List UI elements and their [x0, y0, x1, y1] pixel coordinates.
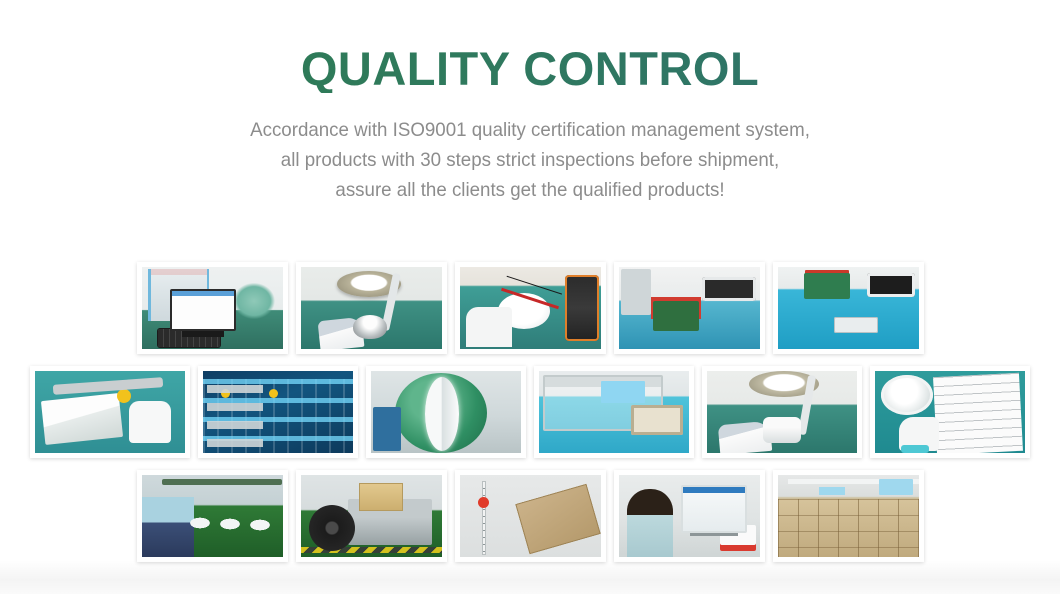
gallery-row-3 [0, 466, 1060, 566]
photo-card-warehouse-storage[interactable] [773, 470, 924, 562]
photo-card-carton-strapping[interactable] [296, 470, 447, 562]
photo-wiring-power-test [778, 267, 919, 349]
photo-card-qc-office-record[interactable] [614, 470, 765, 562]
photo-multimeter-electrical-test [460, 267, 601, 349]
quality-control-page: QUALITY CONTROL Accordance with ISO9001 … [0, 0, 1060, 594]
photo-magnifier-lamp-inspection [301, 267, 442, 349]
page-header: QUALITY CONTROL Accordance with ISO9001 … [0, 0, 1060, 205]
photo-card-wiring-power-test[interactable] [773, 262, 924, 354]
photo-carton-strapping [301, 475, 442, 557]
photo-card-integrating-sphere[interactable] [366, 366, 526, 458]
gallery-row-1 [0, 258, 1060, 358]
photo-qc-office-record [619, 475, 760, 557]
photo-caliper-dimension-check [35, 371, 185, 453]
photo-magnifier-appearance-check [707, 371, 857, 453]
subtitle-line-1: Accordance with ISO9001 quality certific… [21, 115, 1039, 145]
photo-high-voltage-test [539, 371, 689, 453]
photo-card-multimeter-electrical-test[interactable] [455, 262, 606, 354]
photo-card-caliper-dimension-check[interactable] [30, 366, 190, 458]
photo-inspection-report [875, 371, 1025, 453]
photo-aging-rack [203, 371, 353, 453]
photo-card-aging-rack[interactable] [198, 366, 358, 458]
photo-card-high-voltage-test[interactable] [534, 366, 694, 458]
photo-drop-test [460, 475, 601, 557]
photo-integrating-sphere [371, 371, 521, 453]
gallery-row-2 [0, 362, 1060, 462]
photo-card-spectro-test-station[interactable] [137, 262, 288, 354]
photo-assembly-line [142, 475, 283, 557]
photo-warehouse-storage [778, 475, 919, 557]
subtitle-line-2: all products with 30 steps strict inspec… [21, 145, 1039, 175]
photo-spectro-test-station [142, 267, 283, 349]
subtitle-line-3: assure all the clients get the qualified… [21, 175, 1039, 205]
photo-card-drop-test[interactable] [455, 470, 606, 562]
photo-aging-test-bench [619, 267, 760, 349]
photo-card-inspection-report[interactable] [870, 366, 1030, 458]
photo-card-magnifier-lamp-inspection[interactable] [296, 262, 447, 354]
photo-card-magnifier-appearance-check[interactable] [702, 366, 862, 458]
quality-control-gallery [0, 258, 1060, 566]
photo-card-assembly-line[interactable] [137, 470, 288, 562]
photo-card-aging-test-bench[interactable] [614, 262, 765, 354]
page-title: QUALITY CONTROL [0, 44, 1060, 93]
page-subtitle: Accordance with ISO9001 quality certific… [21, 115, 1039, 205]
